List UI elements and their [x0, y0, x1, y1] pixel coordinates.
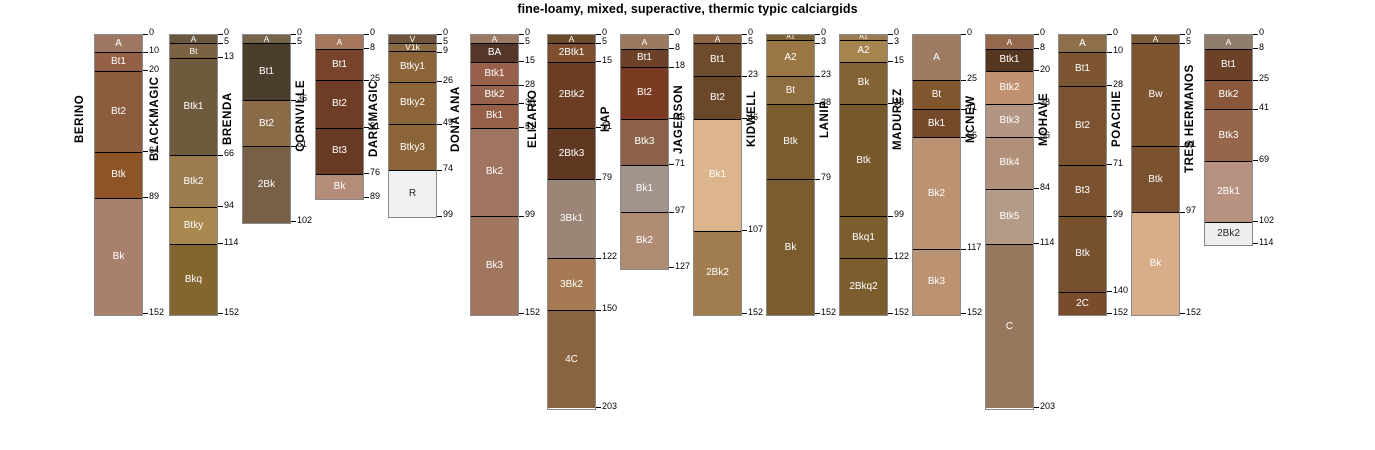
tick-mark	[519, 43, 524, 44]
horizon-segment[interactable]: Btk4	[986, 138, 1033, 190]
horizon-label: Btky2	[389, 98, 436, 108]
horizon-label: Bt2	[621, 88, 668, 98]
tick-mark	[437, 52, 442, 53]
tick-mark	[519, 85, 524, 86]
horizon-label: Bt1	[316, 60, 363, 70]
tick-mark	[961, 313, 966, 314]
depth-value: 8	[1259, 43, 1264, 52]
horizon-segment[interactable]: Bt1	[1205, 50, 1252, 81]
horizon-label: Btk3	[1205, 131, 1252, 141]
tick-mark	[519, 103, 524, 104]
depth-value: 99	[894, 210, 904, 219]
tick-mark	[1253, 243, 1258, 244]
horizon-label: Btk2	[1205, 90, 1252, 100]
tick-mark	[1180, 313, 1185, 314]
profile-name-label: POACHIE	[1111, 34, 1123, 204]
horizon-segment[interactable]: Btk	[840, 105, 887, 217]
horizon-label: Btk	[840, 156, 887, 166]
horizon-segment[interactable]: Bt1	[316, 50, 363, 81]
profile-name-label: MADUREZ	[892, 34, 904, 204]
depth-value: 25	[1259, 74, 1269, 83]
horizon-label: A	[95, 39, 142, 49]
tick-mark	[815, 313, 820, 314]
depth-value: 127	[675, 262, 690, 271]
horizon-label: Bk	[840, 78, 887, 88]
horizon-segment[interactable]: BA	[471, 44, 518, 62]
horizon-segment[interactable]: V	[389, 35, 436, 44]
profile-name-label: MOHAVE	[1038, 34, 1050, 204]
horizon-segment[interactable]: Bt2	[694, 77, 741, 119]
horizon-segment[interactable]: A	[316, 35, 363, 50]
horizon-label: Btk	[767, 137, 814, 147]
horizon-column: ABt1Bt2Bk12Bk2	[693, 34, 742, 316]
horizon-segment[interactable]: Btk2	[986, 72, 1033, 105]
horizon-segment[interactable]: Btk1	[170, 59, 217, 157]
depth-value: 122	[602, 252, 617, 261]
horizon-segment[interactable]: 2C	[1059, 293, 1106, 315]
horizon-segment[interactable]: A	[1059, 35, 1106, 53]
horizon-segment[interactable]: A	[243, 35, 290, 44]
depth-value: 0	[1259, 28, 1264, 37]
horizon-segment[interactable]: A	[694, 35, 741, 44]
horizon-segment[interactable]: Bk	[767, 180, 814, 314]
horizon-label: 2Bk	[243, 180, 290, 190]
horizon-column: ABt1Bt2Bt3Btk2C	[1058, 34, 1107, 316]
depth-value: 152	[224, 308, 239, 317]
horizon-segment[interactable]: 4C	[548, 311, 595, 409]
profile-name-label: DARKMAGIC	[368, 34, 380, 204]
tick-mark	[519, 216, 524, 217]
horizon-segment[interactable]: Bt	[170, 44, 217, 59]
horizon-segment[interactable]: A	[170, 35, 217, 44]
horizon-segment[interactable]: Btk	[95, 153, 142, 199]
horizon-label: Bt	[913, 90, 960, 100]
horizon-column: ABt1Bt2Btk3Bk1Bk2	[620, 34, 669, 270]
horizon-label: Btk2	[170, 177, 217, 187]
horizon-segment[interactable]: Btky	[170, 208, 217, 245]
horizon-label: Bt1	[1059, 64, 1106, 74]
horizon-label: Bt3	[1059, 186, 1106, 196]
depth-value: 102	[297, 216, 312, 225]
tick-mark	[888, 258, 893, 259]
tick-mark	[437, 124, 442, 125]
tick-mark	[669, 212, 674, 213]
horizon-column: A1A2BtBtkBk	[766, 34, 815, 316]
horizon-label: Btk2	[986, 83, 1033, 93]
horizon-segment[interactable]: A	[621, 35, 668, 50]
tick-mark	[143, 52, 148, 53]
horizon-segment[interactable]: Btk	[767, 105, 814, 180]
horizon-label: Bt2	[1059, 121, 1106, 131]
horizon-label: Bk1	[913, 119, 960, 129]
tick-mark	[218, 243, 223, 244]
horizon-segment[interactable]: Btk2	[471, 86, 518, 104]
horizon-label: Bk1	[621, 184, 668, 194]
horizon-label: Bt2	[694, 93, 741, 103]
horizon-label: A	[621, 38, 668, 47]
depth-value: 152	[748, 308, 763, 317]
horizon-segment[interactable]: Btk3	[1205, 110, 1252, 162]
horizon-label: Bt2	[316, 99, 363, 109]
horizon-label: Bk3	[471, 261, 518, 271]
horizon-segment[interactable]: Btk5	[986, 190, 1033, 245]
horizon-segment[interactable]: 2Bk2	[1205, 223, 1252, 245]
depth-value: 99	[1113, 210, 1123, 219]
horizon-segment[interactable]: Btk	[1132, 147, 1179, 213]
horizon-label: 2Btk2	[548, 90, 595, 100]
horizon-segment[interactable]: 2Btk2	[548, 63, 595, 129]
horizon-label: Bt	[767, 86, 814, 96]
horizon-segment[interactable]: Btk	[1059, 217, 1106, 292]
horizon-segment[interactable]: Bk1	[694, 120, 741, 232]
tick-mark	[437, 34, 442, 35]
horizon-label: 3Bk2	[548, 280, 595, 290]
horizon-segment[interactable]: A	[95, 35, 142, 53]
depth-value: 203	[602, 402, 617, 411]
horizon-segment[interactable]: Bk1	[913, 110, 960, 138]
tick-mark	[437, 216, 442, 217]
horizon-column: A1A2BkBtkBkq12Bkq2	[839, 34, 888, 316]
profile-name-label: BRENDA	[222, 34, 234, 204]
tick-mark	[143, 151, 148, 152]
horizon-label: A	[548, 35, 595, 43]
tick-mark	[519, 127, 524, 128]
horizon-label: Bt1	[243, 67, 290, 77]
tick-mark	[437, 170, 442, 171]
horizon-segment[interactable]: Bk3	[471, 217, 518, 315]
horizon-column: ABtBk1Bk2Bk3	[912, 34, 961, 316]
horizon-label: Btk1	[170, 102, 217, 112]
horizon-label: Btk3	[621, 137, 668, 147]
horizon-segment[interactable]: Bt2	[316, 81, 363, 129]
horizon-column: ABtBtk1Btk2BtkyBkq	[169, 34, 218, 316]
horizon-segment[interactable]: Bt2	[243, 101, 290, 147]
tick-mark	[291, 221, 296, 222]
depth-value: 102	[1259, 216, 1274, 225]
depth-value: 114	[224, 238, 238, 247]
tick-mark	[669, 267, 674, 268]
horizon-label: Bt3	[316, 146, 363, 156]
tick-mark	[1253, 221, 1258, 222]
horizon-label: A2	[840, 46, 887, 56]
depth-value: 99	[443, 210, 453, 219]
profile-name-label: BLACKMAGIC	[149, 34, 161, 204]
horizon-segment[interactable]: A	[548, 35, 595, 44]
horizon-label: Btk	[1132, 175, 1179, 185]
horizon-segment[interactable]: Bkq1	[840, 217, 887, 259]
depth-value: 152	[1113, 308, 1128, 317]
horizon-segment[interactable]: Bt1	[95, 53, 142, 71]
tick-mark	[218, 313, 223, 314]
profile-name-label: LANIP	[819, 34, 831, 204]
horizon-label: 2Bk2	[694, 268, 741, 278]
depth-value: 140	[1113, 286, 1128, 295]
profile-name-label: CORNVILLE	[295, 34, 307, 198]
horizon-segment[interactable]: A2	[840, 41, 887, 63]
profile-name-label: ELIZARIO	[527, 34, 539, 204]
horizon-column: ABt1Bt22Bk	[242, 34, 291, 224]
tick-mark	[1253, 80, 1258, 81]
horizon-segment[interactable]: Bt1	[1059, 53, 1106, 86]
horizon-segment[interactable]: Bk2	[621, 213, 668, 268]
horizon-label: Bk	[1132, 259, 1179, 269]
profile-name-label: MCNEW	[965, 34, 977, 204]
horizon-segment[interactable]: Bt1	[243, 44, 290, 101]
tick-mark	[143, 313, 148, 314]
horizon-label: A	[913, 53, 960, 63]
horizon-segment[interactable]: C	[986, 245, 1033, 409]
horizon-column: ABABtk1Btk2Bk1Bk2Bk3	[470, 34, 519, 316]
horizon-label: 2Btk3	[548, 149, 595, 159]
profile-name-label: JAGERSON	[673, 34, 685, 204]
horizon-segment[interactable]: 3Bk2	[548, 259, 595, 311]
tick-mark	[742, 230, 747, 231]
horizon-label: Bt1	[1205, 60, 1252, 70]
horizon-segment[interactable]: Btky1	[389, 52, 436, 83]
horizon-label: A2	[767, 53, 814, 63]
profile-name-label: KIDWELL	[746, 34, 758, 204]
horizon-segment[interactable]: Btk3	[986, 105, 1033, 138]
horizon-label: Bt2	[243, 119, 290, 129]
tick-mark	[218, 206, 223, 207]
horizon-label: V	[389, 35, 436, 43]
horizon-column: ABtk1Btk2Btk3Btk4Btk5C	[985, 34, 1034, 410]
depth-value: 97	[1186, 206, 1196, 215]
horizon-label: Btk1	[986, 55, 1033, 65]
depth-value: 97	[675, 206, 685, 215]
depth-value: 152	[894, 308, 909, 317]
horizon-segment[interactable]: A	[913, 35, 960, 81]
horizon-label: A	[1205, 38, 1252, 47]
page-title: fine-loamy, mixed, superactive, thermic …	[0, 2, 1375, 16]
horizon-segment[interactable]: Bt	[767, 77, 814, 105]
profile-name-label: TRES HERMANOS	[1184, 34, 1196, 204]
horizon-segment[interactable]: Bk	[95, 199, 142, 315]
horizon-label: Bkq	[170, 275, 217, 285]
depth-axis: 08254169102114	[1253, 34, 1299, 244]
horizon-segment[interactable]: R	[389, 171, 436, 217]
horizon-segment[interactable]: Bk	[1132, 213, 1179, 314]
tick-mark	[596, 310, 601, 311]
horizon-label: Bk1	[694, 170, 741, 180]
depth-value: 203	[1040, 402, 1055, 411]
tick-mark	[1034, 243, 1039, 244]
tick-mark	[1253, 160, 1258, 161]
depth-value: 107	[748, 225, 763, 234]
horizon-segment[interactable]: 2Bk2	[694, 232, 741, 315]
horizon-segment[interactable]: A	[1205, 35, 1252, 50]
horizon-segment[interactable]: A2	[767, 41, 814, 78]
horizon-segment[interactable]: Bkq	[170, 245, 217, 315]
depth-value: 152	[525, 308, 540, 317]
horizon-segment[interactable]: Btk2	[1205, 81, 1252, 110]
horizon-column: VV1kBtky1Btky2Btky3R	[388, 34, 437, 218]
depth-value: 69	[1259, 155, 1269, 164]
tick-mark	[1253, 34, 1258, 35]
horizon-label: A	[694, 35, 741, 43]
tick-mark	[596, 407, 601, 408]
horizon-label: Bt1	[694, 55, 741, 65]
horizon-segment[interactable]: A	[986, 35, 1033, 50]
soil-profile-chart: BERINOABt1Bt2BtkBk010206489152BLACKMAGIC…	[0, 34, 1375, 444]
depth-value: 152	[1186, 308, 1201, 317]
horizon-segment[interactable]: 2Bk	[243, 147, 290, 222]
horizon-segment[interactable]: Bk2	[913, 138, 960, 250]
tick-mark	[1107, 291, 1112, 292]
horizon-label: Bkq1	[840, 233, 887, 243]
tick-mark	[519, 313, 524, 314]
tick-mark	[1107, 313, 1112, 314]
horizon-segment[interactable]: Btk1	[471, 63, 518, 87]
horizon-segment[interactable]: Bt2	[95, 72, 142, 153]
horizon-segment[interactable]: Bt	[913, 81, 960, 110]
horizon-segment[interactable]: Btky2	[389, 83, 436, 125]
horizon-segment[interactable]: Bt3	[316, 129, 363, 175]
horizon-segment[interactable]: Btk1	[986, 50, 1033, 72]
horizon-label: Bt1	[95, 57, 142, 67]
horizon-segment[interactable]: Bk3	[913, 250, 960, 314]
depth-value: 9	[443, 46, 448, 55]
horizon-segment[interactable]: Bw	[1132, 44, 1179, 147]
horizon-column: A2Btk12Btk22Btk33Bk13Bk24C	[547, 34, 596, 410]
tick-mark	[519, 61, 524, 62]
horizon-label: 3Bk1	[548, 214, 595, 224]
horizon-label: Btky3	[389, 143, 436, 153]
horizon-label: Bk	[767, 243, 814, 253]
tick-mark	[143, 70, 148, 71]
horizon-label: 2Bk1	[1205, 187, 1252, 197]
horizon-label: Btky	[170, 221, 217, 231]
depth-value: 41	[1259, 103, 1269, 112]
horizon-segment[interactable]: 2Btk3	[548, 129, 595, 181]
tick-mark	[1107, 216, 1112, 217]
depth-value: 122	[894, 252, 909, 261]
horizon-segment[interactable]: 2Bkq2	[840, 259, 887, 314]
horizon-label: Btk2	[471, 90, 518, 100]
horizon-column: ABt1Btk2Btk32Bk12Bk2	[1204, 34, 1253, 246]
tick-mark	[888, 313, 893, 314]
horizon-segment[interactable]: Bt2	[621, 68, 668, 120]
horizon-label: Btky1	[389, 62, 436, 72]
horizon-label: Bk2	[471, 167, 518, 177]
profile-name-label: DONA ANA	[450, 34, 462, 204]
horizon-label: A	[170, 35, 217, 43]
horizon-label: 2Bk2	[1205, 229, 1252, 239]
horizon-column: ABt1Bt2Bt3Bk	[315, 34, 364, 200]
horizon-segment[interactable]: Bk	[316, 175, 363, 199]
horizon-label: A	[471, 35, 518, 43]
horizon-label: Btk	[1059, 249, 1106, 259]
horizon-segment[interactable]: 2Bk1	[1205, 162, 1252, 223]
horizon-segment[interactable]: 2Btk1	[548, 44, 595, 62]
horizon-label: Bw	[1132, 90, 1179, 100]
horizon-label: Btk	[95, 170, 142, 180]
horizon-label: Bt2	[95, 107, 142, 117]
depth-value: 99	[525, 210, 535, 219]
horizon-label: 2C	[1059, 299, 1106, 309]
horizon-label: Bk	[95, 252, 142, 262]
horizon-segment[interactable]: Bk2	[471, 129, 518, 217]
tick-mark	[437, 81, 442, 82]
tick-mark	[1180, 212, 1185, 213]
horizon-label: A	[1132, 35, 1179, 43]
horizon-segment[interactable]: Bt1	[694, 44, 741, 77]
tick-mark	[1034, 407, 1039, 408]
tick-mark	[596, 258, 601, 259]
horizon-label: BA	[471, 48, 518, 58]
horizon-label: Bk	[316, 182, 363, 192]
profile-name-label: HAP	[600, 34, 612, 204]
horizon-label: 4C	[548, 355, 595, 365]
tick-mark	[742, 313, 747, 314]
horizon-label: C	[986, 322, 1033, 332]
depth-value: 150	[602, 304, 617, 313]
tick-mark	[143, 197, 148, 198]
horizon-label: 2Btk1	[548, 48, 595, 58]
horizon-segment[interactable]: Bt3	[1059, 166, 1106, 218]
horizon-segment[interactable]: A	[1132, 35, 1179, 44]
horizon-label: Bk1	[471, 111, 518, 121]
horizon-label: Btk5	[986, 212, 1033, 222]
horizon-label: Bk3	[913, 277, 960, 287]
horizon-label: Btk3	[986, 116, 1033, 126]
tick-mark	[1253, 48, 1258, 49]
depth-value: 114	[1259, 238, 1273, 247]
depth-value: 117	[967, 243, 981, 252]
depth-value: 152	[821, 308, 836, 317]
horizon-label: Bk2	[913, 189, 960, 199]
horizon-label: Btk1	[471, 69, 518, 79]
horizon-segment[interactable]: Bk1	[621, 166, 668, 214]
tick-mark	[143, 34, 148, 35]
horizon-segment[interactable]: Btk2	[170, 156, 217, 208]
horizon-segment[interactable]: Bk	[840, 63, 887, 105]
horizon-label: A	[986, 38, 1033, 47]
tick-mark	[519, 34, 524, 35]
tick-mark	[437, 43, 442, 44]
horizon-column: ABwBtkBk	[1131, 34, 1180, 316]
horizon-label: Btk4	[986, 158, 1033, 168]
horizon-label: Bt	[170, 47, 217, 56]
horizon-segment[interactable]: Bt2	[1059, 87, 1106, 166]
horizon-label: A	[243, 35, 290, 43]
horizon-label: R	[389, 189, 436, 199]
horizon-segment[interactable]: Btk3	[621, 120, 668, 166]
horizon-segment[interactable]: A	[471, 35, 518, 44]
horizon-segment[interactable]: V1k	[389, 44, 436, 51]
horizon-label: A	[316, 38, 363, 47]
horizon-segment[interactable]: 3Bk1	[548, 180, 595, 259]
horizon-label: Bk2	[621, 236, 668, 246]
horizon-column: ABt1Bt2BtkBk	[94, 34, 143, 316]
horizon-label: Bt1	[621, 53, 668, 63]
depth-value: 152	[149, 308, 164, 317]
horizon-segment[interactable]: Bt1	[621, 50, 668, 68]
depth-value: 152	[967, 308, 982, 317]
tick-mark	[1253, 109, 1258, 110]
tick-mark	[888, 216, 893, 217]
profile-name-label: BERINO	[74, 34, 86, 204]
horizon-label: V1k	[389, 44, 436, 51]
horizon-segment[interactable]: Bk1	[471, 105, 518, 129]
horizon-segment[interactable]: Btky3	[389, 125, 436, 171]
depth-value: 114	[1040, 238, 1054, 247]
horizon-label: A	[1059, 39, 1106, 49]
tick-mark	[961, 249, 966, 250]
horizon-label: 2Bkq2	[840, 282, 887, 292]
